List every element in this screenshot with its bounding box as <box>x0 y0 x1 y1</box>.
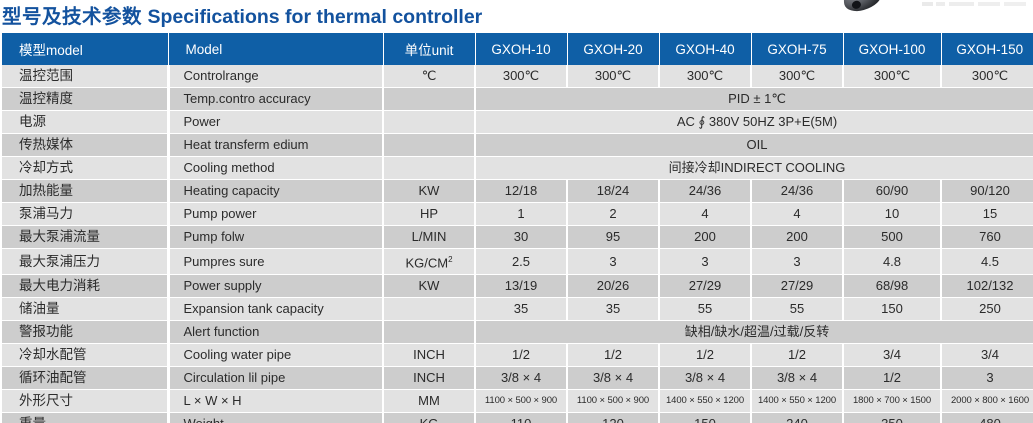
row-label-en: Pump folw <box>168 226 383 249</box>
row-label-en: Controlrange <box>168 65 383 88</box>
table-row: 最大泵浦压力Pumpres sureKG/CM22.53334.84.5 <box>2 249 1033 275</box>
row-unit <box>383 321 475 344</box>
table-row: 冷却水配管Cooling water pipeINCH1/21/21/21/23… <box>2 344 1033 367</box>
row-value: 3/4 <box>941 344 1033 367</box>
table-row: 警报功能Alert function缺相/缺水/超温/过载/反转 <box>2 321 1033 344</box>
row-label-en: Alert function <box>168 321 383 344</box>
row-unit <box>383 298 475 321</box>
row-label-cn: 电源 <box>2 111 168 134</box>
page-title: 型号及技术参数 Specifications for thermal contr… <box>0 5 482 29</box>
row-value: 30 <box>475 226 567 249</box>
row-value: 500 <box>843 226 941 249</box>
row-value: 250 <box>941 298 1033 321</box>
row-merged-value: AC ∮ 380V 50HZ 3P+E(5M) <box>475 111 1033 134</box>
row-value: 95 <box>567 226 659 249</box>
row-value: 1 <box>475 203 567 226</box>
table-header-row: 模型model Model 单位unit GXOH-10 GXOH-20 GXO… <box>2 33 1033 65</box>
row-value: 4 <box>659 203 751 226</box>
row-value: 1/2 <box>751 344 843 367</box>
row-label-en: Pump power <box>168 203 383 226</box>
row-value: 240 <box>751 413 843 423</box>
row-value: 120 <box>567 413 659 423</box>
row-unit <box>383 157 475 180</box>
row-value: 3/8 × 4 <box>751 367 843 390</box>
row-label-en: Heat transferm edium <box>168 134 383 157</box>
row-label-en: Cooling water pipe <box>168 344 383 367</box>
row-value: 12/18 <box>475 180 567 203</box>
col-header-model-cn: 模型model <box>2 33 168 65</box>
row-value: 1100 × 500 × 900 <box>567 390 659 413</box>
page-title-cn: 型号及技术参数 <box>2 6 142 28</box>
row-value: 1100 × 500 × 900 <box>475 390 567 413</box>
row-merged-value: 间接冷却INDIRECT COOLING <box>475 157 1033 180</box>
row-label-cn: 温控范围 <box>2 65 168 88</box>
row-value: 24/36 <box>751 180 843 203</box>
row-label-cn: 最大泵浦流量 <box>2 226 168 249</box>
row-value: 15 <box>941 203 1033 226</box>
row-label-cn: 警报功能 <box>2 321 168 344</box>
row-label-en: Power supply <box>168 275 383 298</box>
table-row: 储油量Expansion tank capacity35355555150250 <box>2 298 1033 321</box>
table-row: 最大电力消耗Power supplyKW13/1920/2627/2927/29… <box>2 275 1033 298</box>
row-unit: INCH <box>383 367 475 390</box>
row-unit <box>383 134 475 157</box>
table-row: 加热能量Heating capacityKW12/1818/2424/3624/… <box>2 180 1033 203</box>
row-value: 200 <box>659 226 751 249</box>
row-value: 20/26 <box>567 275 659 298</box>
row-label-en: Heating capacity <box>168 180 383 203</box>
table-row: 最大泵浦流量Pump folwL/MIN3095200200500760 <box>2 226 1033 249</box>
row-label-cn: 最大泵浦压力 <box>2 249 168 275</box>
table-row: 泵浦马力Pump powerHP12441015 <box>2 203 1033 226</box>
row-value: 480 <box>941 413 1033 423</box>
row-label-cn: 最大电力消耗 <box>2 275 168 298</box>
table-header: 模型model Model 单位unit GXOH-10 GXOH-20 GXO… <box>2 33 1033 65</box>
col-header-gxoh-40: GXOH-40 <box>659 33 751 65</box>
row-merged-value: OIL <box>475 134 1033 157</box>
col-header-unit: 单位unit <box>383 33 475 65</box>
row-value: 2.5 <box>475 249 567 275</box>
row-value: 2 <box>567 203 659 226</box>
table-row: 外形尺寸L × W × HMM1100 × 500 × 9001100 × 50… <box>2 390 1033 413</box>
row-value: 150 <box>843 298 941 321</box>
row-value: 3/8 × 4 <box>475 367 567 390</box>
col-header-gxoh-75: GXOH-75 <box>751 33 843 65</box>
row-label-cn: 冷却方式 <box>2 157 168 180</box>
table-row: 电源PowerAC ∮ 380V 50HZ 3P+E(5M) <box>2 111 1033 134</box>
row-value: 18/24 <box>567 180 659 203</box>
row-label-cn: 重量 <box>2 413 168 423</box>
row-label-en: Power <box>168 111 383 134</box>
row-value: 10 <box>843 203 941 226</box>
row-value: 300℃ <box>941 65 1033 88</box>
row-value: 4.5 <box>941 249 1033 275</box>
page-title-en: Specifications for thermal controller <box>147 6 482 28</box>
col-header-gxoh-100: GXOH-100 <box>843 33 941 65</box>
row-unit: ℃ <box>383 65 475 88</box>
table-row: 温控精度Temp.contro accuracyPID ± 1℃ <box>2 88 1033 111</box>
table-body: 温控范围Controlrange℃300℃300℃300℃300℃300℃300… <box>2 65 1033 423</box>
row-value: 1800 × 700 × 1500 <box>843 390 941 413</box>
row-value: 3 <box>567 249 659 275</box>
row-value: 300℃ <box>751 65 843 88</box>
col-header-gxoh-10: GXOH-10 <box>475 33 567 65</box>
title-band: 型号及技术参数 Specifications for thermal contr… <box>0 0 1033 33</box>
row-unit: HP <box>383 203 475 226</box>
row-merged-value: 缺相/缺水/超温/过载/反转 <box>475 321 1033 344</box>
row-label-en: Temp.contro accuracy <box>168 88 383 111</box>
row-value: 760 <box>941 226 1033 249</box>
row-value: 102/132 <box>941 275 1033 298</box>
row-value: 24/36 <box>659 180 751 203</box>
row-label-cn: 储油量 <box>2 298 168 321</box>
row-value: 150 <box>659 413 751 423</box>
row-value: 68/98 <box>843 275 941 298</box>
row-label-en: Cooling method <box>168 157 383 180</box>
spec-sheet-page: 型号及技术参数 Specifications for thermal contr… <box>0 0 1033 423</box>
row-value: 27/29 <box>751 275 843 298</box>
row-label-cn: 温控精度 <box>2 88 168 111</box>
row-value: 350 <box>843 413 941 423</box>
row-value: 3/4 <box>843 344 941 367</box>
row-label-en: Weight <box>168 413 383 423</box>
row-value: 1/2 <box>567 344 659 367</box>
bottom-rule <box>2 412 1031 413</box>
row-value: 1400 × 550 × 1200 <box>751 390 843 413</box>
row-merged-value: PID ± 1℃ <box>475 88 1033 111</box>
table-row: 冷却方式Cooling method间接冷却INDIRECT COOLING <box>2 157 1033 180</box>
table-row: 传热媒体Heat transferm ediumOIL <box>2 134 1033 157</box>
row-value: 3 <box>941 367 1033 390</box>
specifications-table: 模型model Model 单位unit GXOH-10 GXOH-20 GXO… <box>2 33 1033 423</box>
row-label-cn: 加热能量 <box>2 180 168 203</box>
row-unit <box>383 111 475 134</box>
row-value: 300℃ <box>843 65 941 88</box>
row-value: 3/8 × 4 <box>659 367 751 390</box>
row-value: 35 <box>567 298 659 321</box>
row-unit: L/MIN <box>383 226 475 249</box>
row-value: 90/120 <box>941 180 1033 203</box>
row-label-en: Pumpres sure <box>168 249 383 275</box>
unit-superscript: 2 <box>448 255 452 264</box>
table-row: 温控范围Controlrange℃300℃300℃300℃300℃300℃300… <box>2 65 1033 88</box>
row-value: 55 <box>659 298 751 321</box>
row-unit: KG <box>383 413 475 423</box>
row-unit: KW <box>383 275 475 298</box>
row-value: 1/2 <box>659 344 751 367</box>
row-value: 3 <box>751 249 843 275</box>
row-label-en: L × W × H <box>168 390 383 413</box>
row-label-en: Expansion tank capacity <box>168 298 383 321</box>
row-value: 300℃ <box>567 65 659 88</box>
row-value: 1/2 <box>843 367 941 390</box>
row-value: 3/8 × 4 <box>567 367 659 390</box>
row-label-cn: 传热媒体 <box>2 134 168 157</box>
row-unit: MM <box>383 390 475 413</box>
row-value: 110 <box>475 413 567 423</box>
row-label-cn: 循环油配管 <box>2 367 168 390</box>
row-value: 3 <box>659 249 751 275</box>
row-label-cn: 冷却水配管 <box>2 344 168 367</box>
row-unit: INCH <box>383 344 475 367</box>
table-row: 重量WeightKG110120150240350480 <box>2 413 1033 423</box>
row-label-en: Circulation lil pipe <box>168 367 383 390</box>
row-label-cn: 泵浦马力 <box>2 203 168 226</box>
row-value: 4 <box>751 203 843 226</box>
row-value: 35 <box>475 298 567 321</box>
brand-text-icon <box>922 0 1026 7</box>
row-unit: KG/CM2 <box>383 249 475 275</box>
row-value: 300℃ <box>659 65 751 88</box>
row-value: 1400 × 550 × 1200 <box>659 390 751 413</box>
row-label-cn: 外形尺寸 <box>2 390 168 413</box>
col-header-gxoh-150: GXOH-150 <box>941 33 1033 65</box>
row-value: 27/29 <box>659 275 751 298</box>
row-value: 13/19 <box>475 275 567 298</box>
row-value: 55 <box>751 298 843 321</box>
row-value: 4.8 <box>843 249 941 275</box>
row-value: 60/90 <box>843 180 941 203</box>
row-value: 300℃ <box>475 65 567 88</box>
row-unit <box>383 88 475 111</box>
col-header-gxoh-20: GXOH-20 <box>567 33 659 65</box>
row-value: 2000 × 800 × 1600 <box>941 390 1033 413</box>
table-row: 循环油配管Circulation lil pipeINCH3/8 × 43/8 … <box>2 367 1033 390</box>
row-value: 1/2 <box>475 344 567 367</box>
col-header-model-en: Model <box>168 33 383 65</box>
row-unit: KW <box>383 180 475 203</box>
row-value: 200 <box>751 226 843 249</box>
